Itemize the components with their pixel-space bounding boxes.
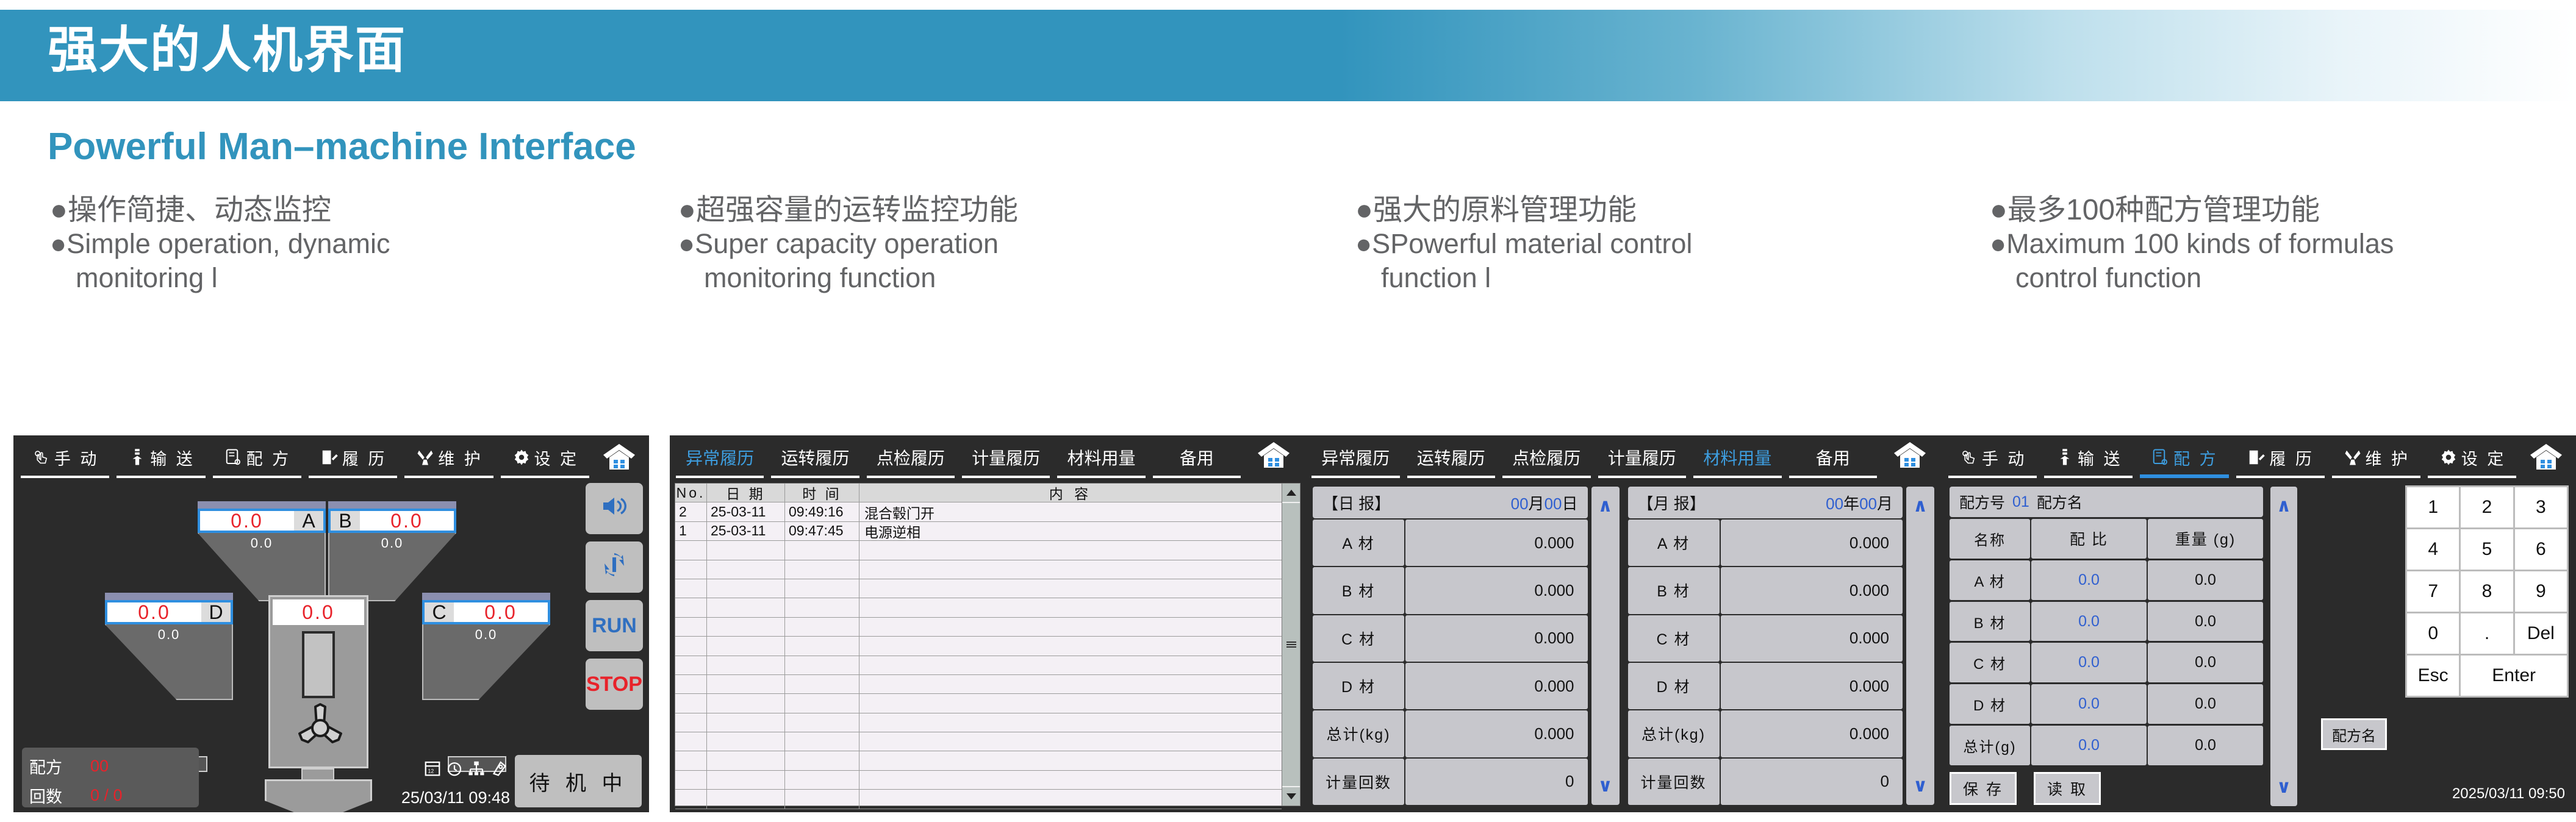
hopper-d[interactable]: 0.0 D 0.0 — [105, 593, 233, 700]
daily-day-unit: 日 — [1562, 495, 1577, 513]
nav-item-settings[interactable]: 设 定 — [2424, 435, 2520, 479]
nav-item-label: 配 方 — [2173, 446, 2219, 470]
hopper-b-value: 0.0 — [360, 511, 454, 531]
table-row[interactable] — [675, 771, 1282, 790]
key-2[interactable]: 2 — [2461, 487, 2513, 527]
recipe-editor: 配方号 01 配方名 名称 配 比 重量 (g) A 材 0.0 0.0 B 材 — [1950, 487, 2570, 806]
bullet-en-line1: ●Super capacity operation — [678, 227, 1276, 261]
cell-weight: 0.0 — [2148, 684, 2263, 724]
buzzer-button[interactable] — [586, 483, 643, 534]
cell-ratio: 0.0 — [2031, 726, 2147, 765]
col-content: 内 容 — [859, 484, 1282, 502]
home-icon — [602, 442, 636, 473]
row-value: 0 — [1721, 759, 1903, 805]
table-row[interactable] — [675, 541, 1282, 560]
daily-report-title: 【日 报】 — [1322, 491, 1390, 514]
row-value: 0.000 — [1405, 615, 1588, 662]
cell-name: B 材 — [1950, 602, 2030, 642]
tab-weighing-history[interactable]: 计量履历 — [1595, 435, 1690, 479]
cell-weight: 0.0 — [2148, 643, 2263, 682]
key-3[interactable]: 3 — [2515, 487, 2567, 527]
gear-icon — [2438, 447, 2459, 468]
row-label: D 材 — [1313, 663, 1404, 709]
hopper-b[interactable]: B 0.0 0.0 — [328, 501, 456, 601]
row-label: B 材 — [1628, 567, 1720, 613]
home-button[interactable] — [1881, 435, 1939, 479]
key-1[interactable]: 1 — [2407, 487, 2459, 527]
scroll-up-arrow-icon[interactable] — [1282, 484, 1300, 502]
stop-button[interactable]: STOP — [586, 659, 643, 710]
tab-label: 异常履历 — [1321, 445, 1390, 470]
row-label: A 材 — [1313, 520, 1404, 566]
row-label: C 材 — [1313, 615, 1404, 662]
vertical-scrollbar[interactable] — [1282, 483, 1301, 806]
cell-time: 09:49:16 — [785, 502, 859, 521]
recipe-table-wrapper: 配方号 01 配方名 名称 配 比 重量 (g) A 材 0.0 0.0 B 材 — [1950, 487, 2263, 806]
recipe-number: 00 — [90, 757, 109, 776]
recipe-name-button[interactable]: 配方名 — [2321, 718, 2387, 750]
recipe-scroller[interactable]: ∧ ∨ — [2270, 487, 2297, 806]
monthly-month-unit: 月 — [1877, 495, 1893, 513]
hopper-c-tag: C — [425, 602, 454, 622]
row-label: C 材 — [1628, 615, 1720, 662]
table-row: D 材 0.000 — [1628, 663, 1903, 709]
hmi-panel-alarm-history: 异常履历 运转履历 点检履历 计量履历 材料用量 备用 — [670, 435, 1305, 812]
recipe-name-label: 配方名 — [2037, 491, 2083, 513]
table-header-row: No. 日 期 时 间 内 容 — [675, 484, 1282, 502]
tab-label: 运转履历 — [781, 445, 849, 470]
monthly-report-group: 【月 报】 00年00月 A 材 0.000 B 材 0.000 C — [1628, 487, 1935, 805]
tab-label: 备用 — [1816, 445, 1850, 470]
clock-icon — [445, 759, 464, 781]
home-icon — [1893, 441, 1927, 474]
recipe-info-box: 配方 00 回数 0 / 0 — [22, 748, 199, 807]
mixer-shaft-block — [302, 631, 335, 698]
col-name: 名称 — [1950, 519, 2030, 559]
row-value: 0.000 — [1405, 520, 1588, 566]
row-label: 计量回数 — [1313, 759, 1404, 805]
network-icon — [467, 759, 486, 781]
nav-item-transfer[interactable]: 输 送 — [113, 435, 209, 479]
load-button[interactable]: 读 取 — [2034, 772, 2101, 805]
scrollbar-thumb[interactable] — [1282, 503, 1300, 786]
scroll-down-arrow-icon[interactable] — [1282, 787, 1300, 806]
tab-material-usage[interactable]: 材料用量 — [1690, 435, 1785, 479]
slide-root: 强大的人机界面 Powerful Man–machine Interface ●… — [0, 0, 2576, 822]
scroll-up-arrow-icon[interactable]: ∧ — [1913, 495, 1928, 516]
daily-month-unit: 月 — [1529, 495, 1545, 513]
mixer-body[interactable]: 0.0 — [268, 595, 368, 768]
tab-label: 材料用量 — [1703, 445, 1771, 470]
mixer-diagram: 0.0 A 0.0 B 0.0 0.0 — [13, 479, 649, 812]
bullet-column: ●操作简捷、动态监控 ●Simple operation, dynamic mo… — [50, 194, 648, 295]
tab-inspection-history[interactable]: 点检履历 — [863, 435, 958, 479]
hmi-panel-material-usage: 异常履历 运转履历 点检履历 计量履历 材料用量 备用 — [1305, 435, 1942, 812]
table-row: A 材 0.000 — [1628, 520, 1903, 566]
table-row: 总计(kg) 0.000 — [1313, 710, 1588, 757]
discharge-chute — [265, 779, 372, 812]
table-row[interactable] — [675, 637, 1282, 656]
row-label: D 材 — [1628, 663, 1720, 709]
calendar-icon: 12 — [423, 759, 442, 781]
monthly-report-header: 【月 报】 00年00月 — [1628, 487, 1903, 518]
table-row[interactable] — [675, 579, 1282, 598]
hopper-a-subvalue: 0.0 — [199, 535, 325, 551]
down-arrow-icon — [2054, 447, 2075, 468]
cell-no: 1 — [675, 522, 707, 540]
hopper-d-value: 0.0 — [107, 602, 201, 622]
log-table-wrapper: No. 日 期 时 间 内 容 2 25-03-11 09:49:16 混合毂门… — [675, 483, 1301, 806]
alarm-log-table: No. 日 期 时 间 内 容 2 25-03-11 09:49:16 混合毂门… — [675, 483, 1282, 806]
svg-text:12: 12 — [428, 768, 434, 774]
row-label: A 材 — [1628, 520, 1720, 566]
nav-item-history[interactable]: 履 历 — [2233, 435, 2328, 479]
tab-alarm-history[interactable]: 异常履历 — [1308, 435, 1404, 479]
nav-item-label: 履 历 — [2269, 446, 2314, 470]
daily-report-group: 【日 报】 00月00日 A 材 0.000 B 材 0.000 C — [1313, 487, 1620, 805]
table-row: A 材 0.000 — [1313, 520, 1588, 566]
bullet-en-line2: function l — [1355, 261, 1953, 295]
tab-label: 点检履历 — [1512, 445, 1580, 470]
nav-item-label: 输 送 — [2078, 446, 2123, 470]
cell-date: 25-03-11 — [707, 522, 785, 540]
scroll-up-arrow-icon[interactable]: ∧ — [2276, 495, 2291, 516]
table-row[interactable]: 2 25-03-11 09:49:16 混合毂门开 — [675, 502, 1282, 521]
hopper-d-tag: D — [201, 602, 231, 622]
col-ratio: 配 比 — [2031, 519, 2147, 559]
datetime-display: 25/03/11 09:48 — [401, 788, 510, 807]
save-button[interactable]: 保 存 — [1950, 772, 2017, 805]
table-row: B 材 0.000 — [1313, 567, 1588, 613]
row-value: 0.000 — [1721, 710, 1903, 757]
history-doc-icon — [319, 447, 340, 468]
bullet-column: ●最多100种配方管理功能 ●Maximum 100 kinds of form… — [1990, 194, 2575, 295]
control-button-group: RUN STOP — [586, 483, 643, 717]
hopper-c[interactable]: C 0.0 0.0 — [422, 593, 550, 700]
page-subtitle: Powerful Man–machine Interface — [48, 128, 636, 166]
wrench-icon — [2342, 447, 2363, 468]
hopper-a-value: 0.0 — [200, 511, 294, 531]
recipe-no-value[interactable]: 01 — [2012, 493, 2029, 511]
cell-time: 09:47:45 — [785, 522, 859, 540]
table-row: C 材 0.0 0.0 — [1950, 643, 2263, 682]
row-label: 总计(kg) — [1313, 710, 1404, 757]
speaker-icon — [601, 494, 628, 524]
daily-day-value[interactable]: 00 — [1545, 495, 1562, 513]
nav-item-label: 维 护 — [438, 446, 483, 470]
tab-operation-history[interactable]: 运转履历 — [767, 435, 863, 479]
feature-bullets: ●操作简捷、动态监控 ●Simple operation, dynamic mo… — [0, 194, 2576, 371]
bullet-en-line1: ●Maximum 100 kinds of formulas — [1990, 227, 2575, 261]
table-row[interactable] — [675, 675, 1282, 694]
cell-weight: 0.0 — [2148, 726, 2263, 765]
row-value: 0.000 — [1721, 567, 1903, 613]
key-enter[interactable]: Enter — [2461, 656, 2567, 696]
nav-item-label: 配 方 — [246, 446, 292, 470]
tab-label: 计量履历 — [972, 445, 1040, 470]
row-value: 0 — [1405, 759, 1588, 805]
tab-inspection-history[interactable]: 点检履历 — [1499, 435, 1595, 479]
hopper-b-subvalue: 0.0 — [329, 535, 455, 551]
hmi-panel-manual: 手 动 输 送 配 方 履 历 维 护 — [13, 435, 649, 812]
cell-ratio[interactable]: 0.0 — [2031, 684, 2147, 724]
tab-label: 运转履历 — [1417, 445, 1485, 470]
cell-name: 总计(g) — [1950, 726, 2030, 765]
cell-content: 电源逆相 — [859, 522, 1282, 540]
hand-touch-icon — [1959, 447, 1979, 468]
tab-label: 材料用量 — [1067, 445, 1135, 470]
run-button[interactable]: RUN — [586, 600, 643, 651]
row-value: 0.000 — [1721, 615, 1903, 662]
bullet-cn: ●超强容量的运转监控功能 — [678, 194, 1018, 227]
tab-operation-history[interactable]: 运转履历 — [1404, 435, 1499, 479]
tab-weighing-history[interactable]: 计量履历 — [958, 435, 1053, 479]
table-row[interactable] — [675, 751, 1282, 770]
mixer-impeller-icon — [292, 699, 348, 748]
nav-item-label: 手 动 — [54, 446, 99, 470]
key-escape[interactable]: Esc — [2407, 656, 2459, 696]
tab-bar: 异常履历 运转履历 点检履历 计量履历 材料用量 备用 — [670, 435, 1305, 479]
cell-ratio[interactable]: 0.0 — [2031, 643, 2147, 682]
row-value: 0.000 — [1721, 520, 1903, 566]
table-row: C 材 0.000 — [1313, 615, 1588, 662]
hopper-c-subvalue: 0.0 — [423, 627, 549, 643]
key-7[interactable]: 7 — [2407, 571, 2459, 612]
cell-date: 25-03-11 — [707, 502, 785, 521]
table-row: B 材 0.000 — [1628, 567, 1903, 613]
hand-touch-icon — [31, 447, 52, 468]
table-row: C 材 0.000 — [1628, 615, 1903, 662]
tab-label: 异常履历 — [686, 445, 754, 470]
nav-item-maintenance[interactable]: 维 护 — [401, 435, 497, 479]
tab-bar: 异常履历 运转履历 点检履历 计量履历 材料用量 备用 — [1305, 435, 1942, 479]
tab-spare[interactable]: 备用 — [1785, 435, 1881, 479]
row-label: 计量回数 — [1628, 759, 1720, 805]
cell-weight: 0.0 — [2148, 560, 2263, 600]
reset-button[interactable] — [586, 541, 643, 593]
table-row[interactable] — [675, 598, 1282, 617]
home-button[interactable] — [1244, 435, 1303, 479]
row-value: 0.000 — [1405, 567, 1588, 613]
bullet-en-line2: control function — [1990, 261, 2575, 295]
table-row[interactable] — [675, 790, 1282, 809]
nav-item-label: 设 定 — [534, 446, 579, 470]
bullet-cn: ●强大的原料管理功能 — [1355, 194, 1637, 227]
nav-bar: 手 动 输 送 配 方 履 历 维 护 — [1941, 435, 2576, 479]
nav-item-label: 输 送 — [150, 446, 195, 470]
cell-name: C 材 — [1950, 643, 2030, 682]
status-badge-standby: 待 机 中 — [515, 755, 642, 807]
report-area: 【日 报】 00月00日 A 材 0.000 B 材 0.000 C — [1313, 487, 1934, 805]
cell-name: A 材 — [1950, 560, 2030, 600]
cell-no: 2 — [675, 502, 707, 521]
recipe-doc-icon — [223, 447, 244, 468]
bullet-cn: ●最多100种配方管理功能 — [1990, 194, 2320, 227]
numeric-keypad: 1 2 3 4 5 6 7 8 9 0 . Del Esc Enter — [2405, 485, 2569, 698]
daily-report-header: 【日 报】 00月00日 — [1313, 487, 1588, 518]
mixer-neck — [301, 768, 334, 781]
table-row[interactable] — [675, 656, 1282, 675]
monthly-report-scroller[interactable]: ∧ ∨ — [1906, 487, 1934, 805]
col-weight: 重量 (g) — [2148, 519, 2263, 559]
refresh-icon — [601, 552, 627, 583]
row-value: 0.000 — [1405, 710, 1588, 757]
tab-spare[interactable]: 备用 — [1149, 435, 1244, 479]
hopper-c-value: 0.0 — [454, 602, 548, 622]
tab-label: 点检履历 — [877, 445, 945, 470]
hopper-b-tag: B — [331, 511, 360, 531]
hopper-a[interactable]: 0.0 A 0.0 — [198, 501, 326, 601]
nav-item-label: 手 动 — [1982, 446, 2027, 470]
recipe-id-bar: 配方号 01 配方名 — [1950, 487, 2263, 517]
home-button[interactable] — [593, 435, 645, 479]
nav-item-recipe[interactable]: 配 方 — [2136, 435, 2232, 479]
hopper-d-subvalue: 0.0 — [106, 627, 232, 643]
scroll-down-arrow-icon[interactable]: ∨ — [2276, 776, 2291, 798]
home-icon — [2529, 442, 2563, 473]
table-row: 总计(kg) 0.000 — [1628, 710, 1903, 757]
cell-weight: 0.0 — [2148, 602, 2263, 642]
daily-report-table: 【日 报】 00月00日 A 材 0.000 B 材 0.000 C — [1313, 487, 1588, 805]
bullet-en-line1: ●SPowerful material control — [1355, 227, 1953, 261]
nav-item-label: 设 定 — [2461, 446, 2506, 470]
daily-report-scroller[interactable]: ∧ ∨ — [1591, 487, 1620, 805]
wrench-icon — [415, 447, 436, 468]
hmi-panel-recipe: 手 动 输 送 配 方 履 历 维 护 — [1941, 435, 2576, 812]
usb-icon — [489, 759, 508, 781]
table-total-row: 总计(g) 0.0 0.0 — [1950, 726, 2263, 765]
daily-month-value[interactable]: 00 — [1511, 495, 1529, 513]
home-button[interactable] — [2520, 435, 2572, 479]
bullet-en-line1: ●Simple operation, dynamic — [50, 227, 648, 261]
scroll-down-arrow-icon[interactable]: ∨ — [1598, 775, 1612, 796]
datetime-display: 2025/03/11 09:50 — [2452, 785, 2565, 802]
nav-item-maintenance[interactable]: 维 护 — [2328, 435, 2424, 479]
key-8[interactable]: 8 — [2461, 571, 2513, 612]
cell-ratio[interactable]: 0.0 — [2031, 560, 2147, 600]
status-icon-tray: 12 — [423, 759, 508, 781]
nav-item-label: 履 历 — [342, 446, 387, 470]
key-6[interactable]: 6 — [2515, 529, 2567, 570]
nav-item-settings[interactable]: 设 定 — [497, 435, 593, 479]
recipe-no-label: 配方号 — [1959, 491, 2005, 513]
table-row[interactable] — [675, 732, 1282, 751]
table-row: D 材 0.0 0.0 — [1950, 684, 2263, 724]
monthly-report-table: 【月 报】 00年00月 A 材 0.000 B 材 0.000 C — [1628, 487, 1903, 805]
monthly-year-value[interactable]: 00 — [1826, 495, 1843, 513]
down-arrow-icon — [127, 447, 148, 468]
bullet-column: ●超强容量的运转监控功能 ●Super capacity operation m… — [678, 194, 1276, 295]
table-row[interactable] — [675, 713, 1282, 732]
gear-icon — [511, 447, 532, 468]
nav-item-transfer[interactable]: 输 送 — [2040, 435, 2136, 479]
nav-bar: 手 动 输 送 配 方 履 历 维 护 — [13, 435, 649, 479]
table-row[interactable] — [675, 694, 1282, 713]
table-row: B 材 0.0 0.0 — [1950, 602, 2263, 642]
table-row[interactable]: 1 25-03-11 09:47:45 电源逆相 — [675, 522, 1282, 541]
nav-item-manual[interactable]: 手 动 — [17, 435, 113, 479]
row-value: 0.000 — [1721, 663, 1903, 709]
recipe-action-buttons: 保 存 读 取 — [1950, 767, 2263, 806]
table-row: D 材 0.000 — [1313, 663, 1588, 709]
count-value: 0 / 0 — [90, 786, 123, 805]
col-date: 日 期 — [707, 484, 785, 502]
scroll-down-arrow-icon[interactable]: ∨ — [1913, 775, 1928, 796]
scroll-up-arrow-icon[interactable]: ∧ — [1598, 495, 1612, 516]
page-title: 强大的人机界面 — [48, 26, 406, 76]
nav-item-recipe[interactable]: 配 方 — [209, 435, 305, 479]
bullet-cn: ●操作简捷、动态监控 — [50, 194, 331, 227]
tab-label: 计量履历 — [1608, 445, 1676, 470]
monthly-month-value[interactable]: 00 — [1859, 495, 1877, 513]
key-4[interactable]: 4 — [2407, 529, 2459, 570]
row-value: 0.000 — [1405, 663, 1588, 709]
table-header-row: 名称 配 比 重量 (g) — [1950, 519, 2263, 559]
recipe-doc-icon — [2150, 447, 2171, 468]
monthly-year-unit: 年 — [1843, 495, 1859, 513]
row-label: 总计(kg) — [1628, 710, 1720, 757]
row-label: B 材 — [1313, 567, 1404, 613]
key-9[interactable]: 9 — [2515, 571, 2567, 612]
hopper-a-tag: A — [294, 511, 323, 531]
recipe-label: 配方 — [29, 754, 90, 778]
cell-name: D 材 — [1950, 684, 2030, 724]
tab-alarm-history[interactable]: 异常履历 — [672, 435, 767, 479]
nav-item-manual[interactable]: 手 动 — [1945, 435, 2040, 479]
keypad-area: 1 2 3 4 5 6 7 8 9 0 . Del Esc Enter 配方名 … — [2305, 487, 2570, 806]
bullet-column: ●强大的原料管理功能 ●SPowerful material control f… — [1355, 194, 1953, 295]
count-label: 回数 — [29, 784, 90, 807]
key-5[interactable]: 5 — [2461, 529, 2513, 570]
key-decimal[interactable]: . — [2461, 613, 2513, 654]
history-doc-icon — [2246, 447, 2267, 468]
table-row[interactable] — [675, 560, 1282, 579]
table-row: 计量回数 0 — [1628, 759, 1903, 805]
cell-content: 混合毂门开 — [859, 502, 1282, 521]
table-row: A 材 0.0 0.0 — [1950, 560, 2263, 600]
table-row: 计量回数 0 — [1313, 759, 1588, 805]
table-row[interactable] — [675, 618, 1282, 637]
col-no: No. — [675, 484, 707, 502]
monthly-report-title: 【月 报】 — [1638, 491, 1706, 514]
key-0[interactable]: 0 — [2407, 613, 2459, 654]
col-time: 时 间 — [785, 484, 859, 502]
mixer-value: 0.0 — [273, 599, 364, 625]
bullet-en-line2: monitoring function — [678, 261, 1276, 295]
nav-item-label: 维 护 — [2366, 446, 2411, 470]
nav-item-history[interactable]: 履 历 — [305, 435, 401, 479]
cell-ratio[interactable]: 0.0 — [2031, 602, 2147, 642]
tab-label: 备用 — [1180, 445, 1214, 470]
bullet-en-line2: monitoring l — [50, 261, 648, 295]
tab-material-usage[interactable]: 材料用量 — [1053, 435, 1149, 479]
key-delete[interactable]: Del — [2515, 613, 2567, 654]
home-icon — [1257, 441, 1291, 474]
